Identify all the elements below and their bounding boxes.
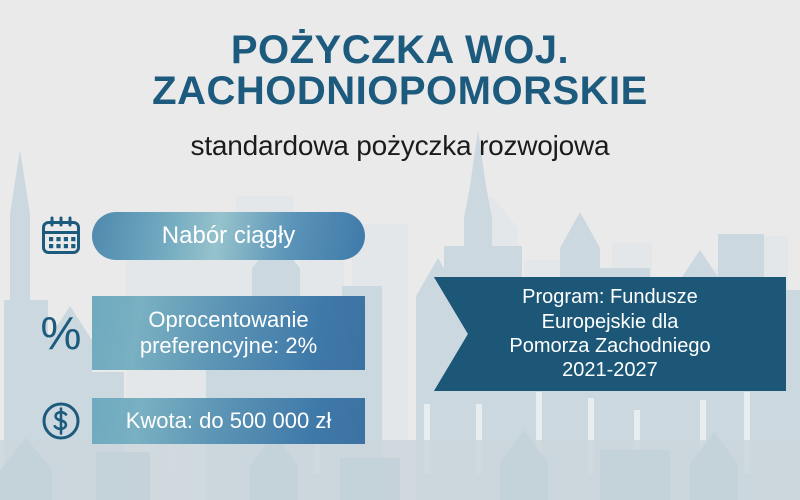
header: POŻYCZKA WOJ. ZACHODNIOPOMORSKIE standar… [0,0,800,162]
ribbon-line-2: Europejskie dla [509,310,710,334]
feature-label-oprocentowanie-line-2: preferencyjne: 2% [140,333,317,359]
feature-badge-oprocentowanie[interactable]: Oprocentowanie preferencyjne: 2% [92,296,365,370]
feature-row-nabor: Nabór ciągły [0,212,365,260]
program-ribbon: Program: Fundusze Europejskie dla Pomorz… [434,277,786,391]
infographic-canvas: POŻYCZKA WOJ. ZACHODNIOPOMORSKIE standar… [0,0,800,500]
ribbon-line-3: Pomorza Zachodniego [509,334,710,358]
feature-label-nabor: Nabór ciągły [162,222,295,250]
percent-glyph: % [41,310,82,356]
feature-label-kwota: Kwota: do 500 000 zł [126,408,331,434]
page-title-line-1: POŻYCZKA WOJ. [0,30,800,71]
dollar-circle-icon [30,399,92,443]
page-subtitle: standardowa pożyczka rozwojowa [0,112,800,162]
ribbon-line-1: Program: Fundusze [509,285,710,309]
page-title: POŻYCZKA WOJ. ZACHODNIOPOMORSKIE [0,0,800,112]
feature-row-kwota: Kwota: do 500 000 zł [0,398,365,444]
ribbon-text: Program: Fundusze Europejskie dla Pomorz… [434,277,786,391]
ribbon-line-4: 2021-2027 [509,358,710,382]
percent-icon: % [30,310,92,356]
feature-badge-nabor[interactable]: Nabór ciągły [92,212,365,260]
feature-label-oprocentowanie-line-1: Oprocentowanie [140,307,317,333]
calendar-icon [30,214,92,258]
feature-badge-kwota[interactable]: Kwota: do 500 000 zł [92,398,365,444]
feature-row-oprocentowanie: % Oprocentowanie preferencyjne: 2% [0,296,365,370]
page-title-line-2: ZACHODNIOPOMORSKIE [0,71,800,112]
